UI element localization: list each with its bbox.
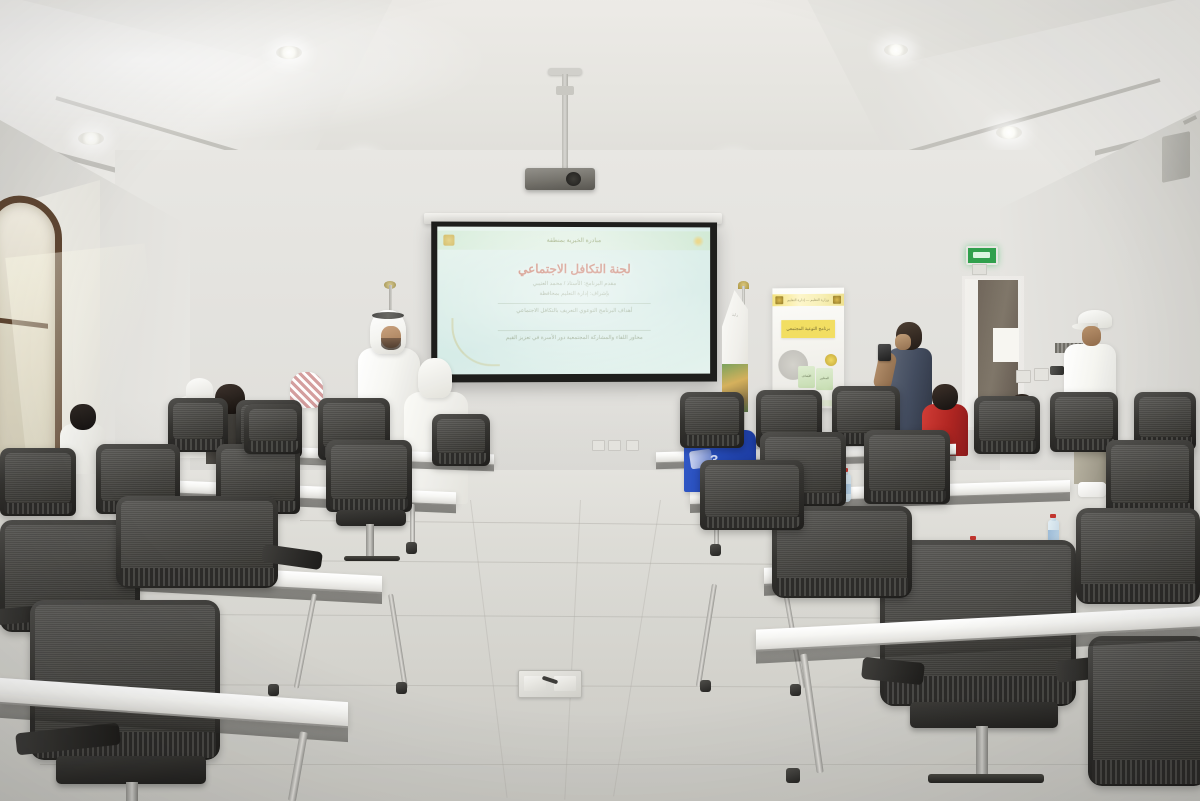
rollup-chip: المحاور xyxy=(816,368,833,390)
man-cap-face xyxy=(1082,326,1101,346)
emergency-light-box xyxy=(972,264,987,275)
bottle-cap xyxy=(1050,514,1056,518)
floor-power-box[interactable] xyxy=(518,670,582,698)
mic-stand xyxy=(389,285,392,311)
presenter-beard xyxy=(381,338,401,350)
wall-socket[interactable] xyxy=(1016,370,1031,383)
projector-lens-icon xyxy=(566,172,581,186)
slide-title: لجنة التكافل الاجتماعي xyxy=(437,262,710,276)
wall-speaker-icon xyxy=(1162,131,1190,183)
wall-socket[interactable] xyxy=(1034,368,1049,381)
slide-divider xyxy=(498,330,651,331)
projection-screen: مبادرة الخيرية بمنطقة لجنة التكافل الاجت… xyxy=(431,222,717,383)
attendee-taqiyah xyxy=(186,378,213,400)
slide-header-text: مبادرة الخيرية بمنطقة xyxy=(547,237,601,244)
attendee-ghutra xyxy=(418,358,452,398)
table-caster xyxy=(700,680,711,692)
tissue-box xyxy=(1078,482,1106,497)
ministry-logo-icon xyxy=(775,296,783,304)
slide-header-bar: مبادرة الخيرية بمنطقة xyxy=(437,231,710,251)
rollup-badge-icon xyxy=(825,354,837,366)
rollup-top-bar: وزارة التعليم — إدارة التعليم xyxy=(772,294,844,307)
downlight-icon xyxy=(276,46,302,59)
projector xyxy=(525,168,595,190)
slide-subtitle-2: بإشراف: إدارة التعليم بمحافظة xyxy=(437,291,710,297)
bottle-label xyxy=(1048,530,1059,540)
door-daylight xyxy=(993,328,1019,362)
presenter-agal xyxy=(372,312,404,319)
wall-socket[interactable] xyxy=(592,440,605,451)
slide-divider xyxy=(498,303,651,304)
table-caster xyxy=(786,768,800,783)
slide-decorative-swoosh xyxy=(451,318,499,366)
wall-socket[interactable] xyxy=(626,440,639,451)
table-caster xyxy=(268,684,279,696)
attendee-head xyxy=(70,404,96,430)
shield-logo-icon xyxy=(443,235,454,246)
starburst-icon xyxy=(692,235,704,247)
phone-icon xyxy=(878,344,891,361)
ministry-logo-icon xyxy=(833,296,841,304)
table-caster xyxy=(790,684,801,696)
downlight-icon xyxy=(78,132,104,145)
rollup-top-bar-text: وزارة التعليم — إدارة التعليم xyxy=(787,298,829,302)
wall-socket[interactable] xyxy=(608,440,621,451)
phone-icon xyxy=(1050,366,1064,375)
table-caster xyxy=(396,682,407,694)
projector-collar xyxy=(556,86,574,95)
flag-label: راية xyxy=(724,312,746,317)
exit-sign-icon xyxy=(966,246,998,265)
downlight-icon xyxy=(884,44,908,56)
slide-surface: مبادرة الخيرية بمنطقة لجنة التكافل الاجت… xyxy=(437,227,710,375)
rollup-chip: الأهداف xyxy=(798,366,815,388)
table-caster xyxy=(710,544,721,556)
boy-red-head xyxy=(932,384,958,410)
slide-body-block-1: أهداف البرنامج التوعوي التعريف بالتكافل … xyxy=(437,307,710,317)
rollup-title: برنامج التوعية المجتمعي xyxy=(781,320,835,338)
slide-subtitle-1: مقدم البرنامج: الأستاذ / محمد العتيبي xyxy=(437,281,710,287)
downlight-icon xyxy=(996,126,1022,139)
table-caster xyxy=(406,542,417,554)
floor-tile-line xyxy=(40,764,1160,765)
table-leg xyxy=(410,504,415,544)
classroom-photo: مبادرة الخيرية بمنطقة لجنة التكافل الاجت… xyxy=(0,0,1200,801)
photographer-face xyxy=(895,334,911,350)
